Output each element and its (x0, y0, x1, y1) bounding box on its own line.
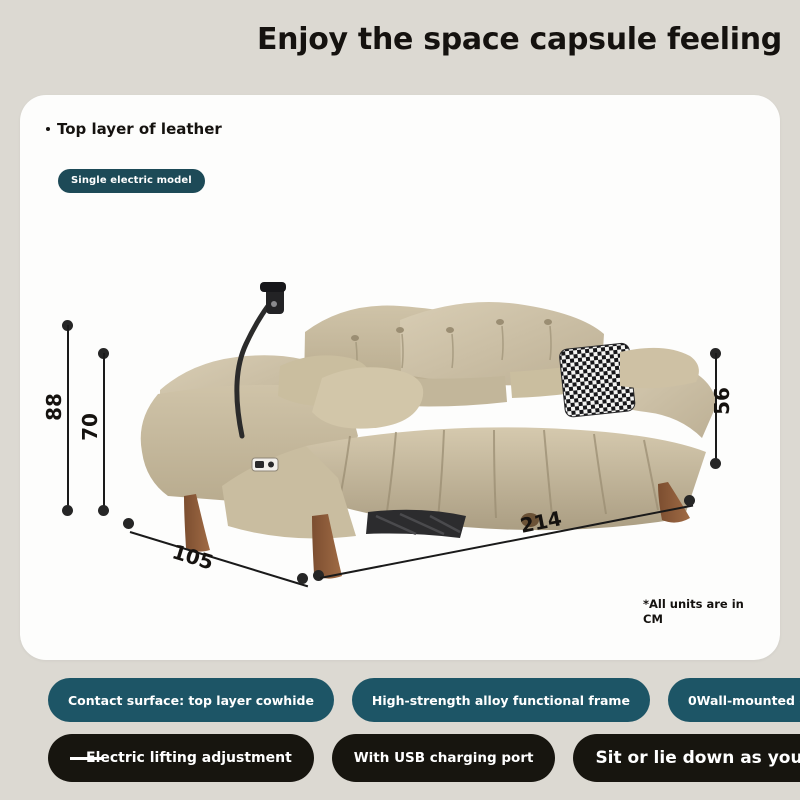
feature-pill-alloy-frame[interactable]: High-strength alloy functional frame (352, 678, 650, 722)
dim-endpoint-dot (62, 505, 73, 516)
dash-icon (70, 757, 104, 760)
bullet-dot-icon (46, 127, 50, 131)
leather-bullet: Top layer of leather (46, 120, 222, 138)
dim-label-56: 56 (710, 381, 734, 421)
dim-label-88: 88 (42, 387, 66, 427)
page-title: Enjoy the space capsule feeling (0, 22, 782, 57)
feature-pill-row-secondary: Electric lifting adjustment With USB cha… (48, 734, 800, 782)
units-note: *All units are in CM (643, 597, 758, 628)
feature-pill-wall-mounted[interactable]: 0Wall-mounted design (668, 678, 800, 722)
leather-bullet-label: Top layer of leather (57, 120, 222, 138)
product-detail-page: Enjoy the space capsule feeling Top laye… (0, 0, 800, 800)
feature-pill-electric-lifting[interactable]: Electric lifting adjustment (48, 734, 314, 782)
sofa-graphic (100, 260, 750, 580)
model-badge: Single electric model (58, 169, 205, 193)
dim-endpoint-dot (684, 495, 695, 506)
feature-pill-cowhide[interactable]: Contact surface: top layer cowhide (48, 678, 334, 722)
feature-pill-usb-port[interactable]: With USB charging port (332, 734, 556, 782)
sofa-illustration (100, 260, 750, 580)
dim-endpoint-dot (123, 518, 134, 529)
dim-label-70: 70 (78, 407, 102, 447)
product-spec-card: Top layer of leather Single electric mod… (20, 95, 780, 660)
dim-endpoint-dot (297, 573, 308, 584)
feature-pill-row-primary: Contact surface: top layer cowhide High-… (48, 678, 800, 722)
feature-pill-sit-or-lie[interactable]: Sit or lie down as you like (573, 734, 800, 782)
dim-endpoint-dot (98, 505, 109, 516)
feature-pill-electric-lifting-label: Electric lifting adjustment (86, 750, 292, 766)
dim-endpoint-dot (710, 458, 721, 469)
dim-line-vertical (103, 353, 105, 511)
dim-line-vertical (67, 325, 69, 510)
